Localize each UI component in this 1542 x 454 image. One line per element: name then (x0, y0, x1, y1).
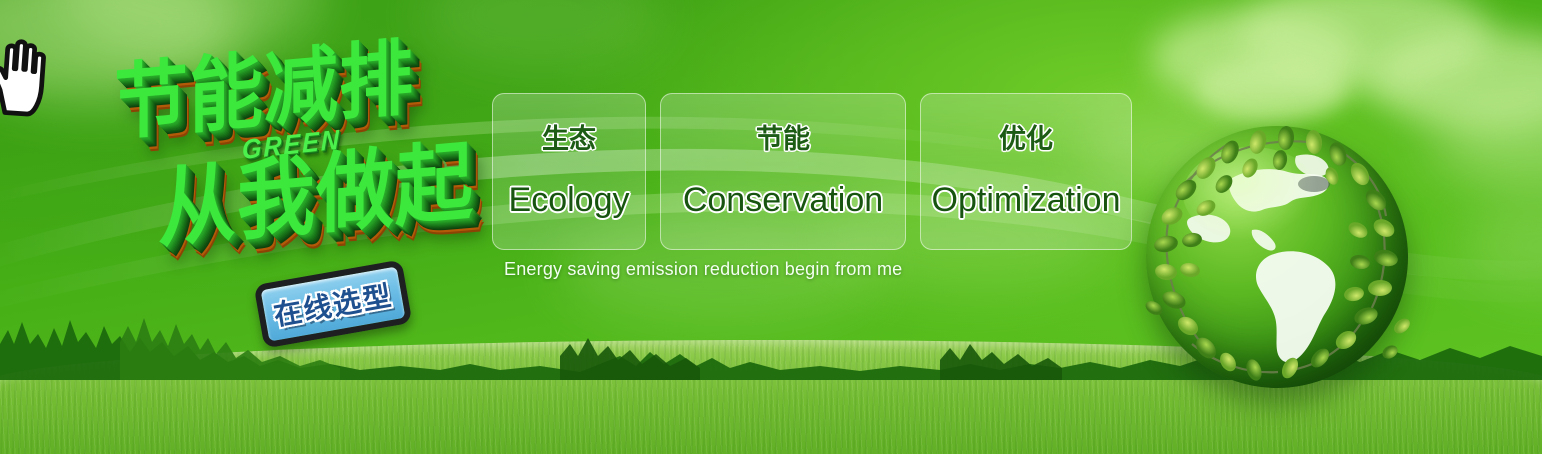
card-ecology-cn: 生态 (542, 126, 596, 153)
card-ecology[interactable]: 生态 Ecology (492, 93, 646, 250)
card-optimization-en: Optimization (932, 183, 1121, 217)
card-conservation-cn: 节能 (756, 126, 810, 153)
leafy-earth-globe (1146, 126, 1408, 388)
card-optimization[interactable]: 优化 Optimization (920, 93, 1132, 250)
card-ecology-en: Ecology (509, 183, 630, 217)
feature-cards: 生态 Ecology 节能 Conservation 优化 Optimizati… (492, 93, 1132, 250)
globe-sphere (1146, 126, 1408, 388)
cta-label: 在线选型 (254, 259, 413, 348)
globe-highlight (1183, 147, 1319, 241)
tagline: Energy saving emission reduction begin f… (504, 259, 902, 280)
card-optimization-cn: 优化 (999, 126, 1053, 153)
card-conservation-en: Conservation (683, 183, 883, 217)
card-conservation[interactable]: 节能 Conservation (660, 93, 906, 250)
headline-3d: 节能减排 GREEN 从我做起 (96, 38, 496, 268)
eco-banner: 节能减排 GREEN 从我做起 在线选型 生态 Ecology 节能 Conse… (0, 0, 1542, 454)
hand-pointer-cursor (0, 31, 61, 122)
headline-line-1: 节能减排 (114, 36, 414, 145)
headline-line-2: 从我做起 (158, 137, 474, 252)
online-selection-button[interactable]: 在线选型 (254, 259, 413, 348)
